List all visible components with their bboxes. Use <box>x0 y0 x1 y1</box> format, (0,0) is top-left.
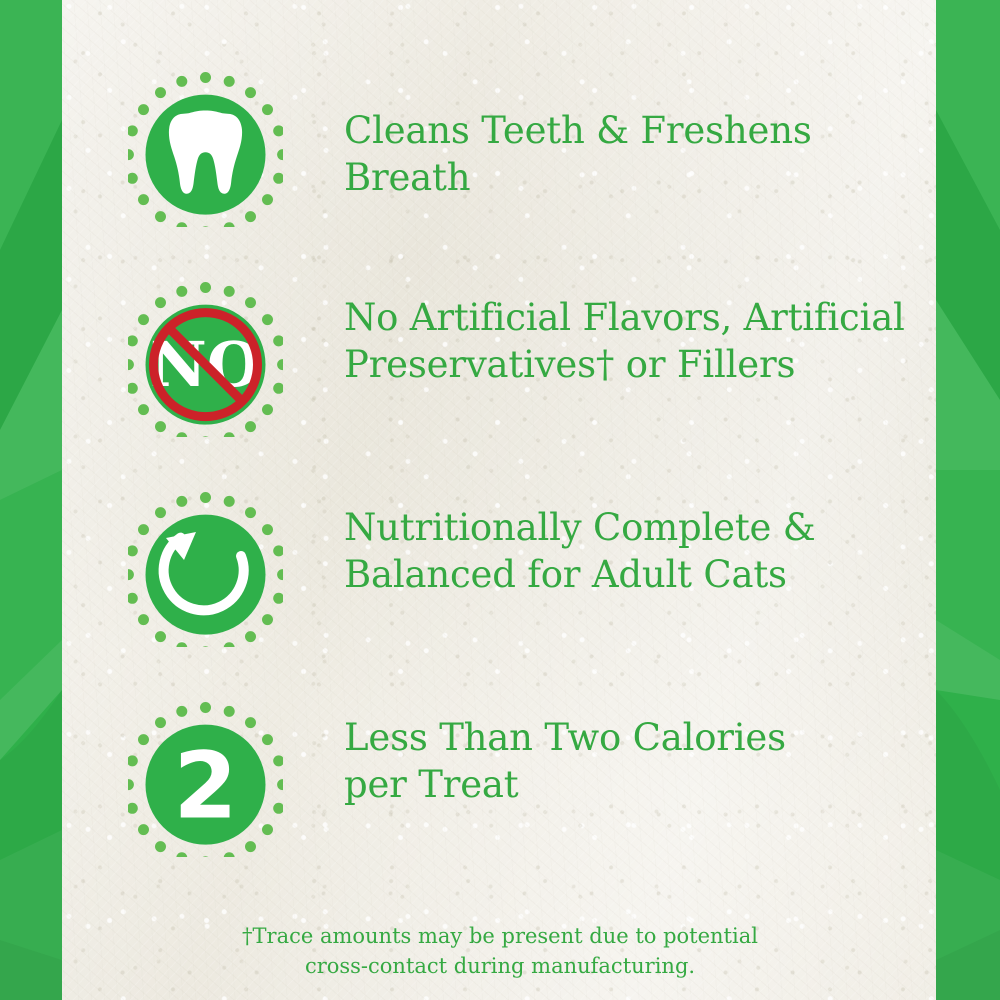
feature-row: Nutritionally Complete & Balanced for Ad… <box>128 492 928 647</box>
right-green-border <box>936 0 1000 1000</box>
feature-row: 2 Less Than Two Calories per Treat <box>128 702 928 857</box>
footnote-text: †Trace amounts may be present due to pot… <box>160 922 840 982</box>
feature-text: Nutritionally Complete & Balanced for Ad… <box>344 492 816 599</box>
number-two-icon: 2 <box>128 702 283 857</box>
feature-icon-badge: NO <box>128 282 283 437</box>
product-benefits-poster: Cleans Teeth & Freshens Breath <box>0 0 1000 1000</box>
feature-icon-badge: 2 <box>128 702 283 857</box>
no-prohibition-icon: NO <box>128 282 283 437</box>
feature-icon-badge <box>128 492 283 647</box>
feature-text: Cleans Teeth & Freshens Breath <box>344 72 928 202</box>
two-label: 2 <box>173 733 237 840</box>
right-band-facets <box>936 0 1000 1000</box>
feature-icon-badge <box>128 72 283 227</box>
circular-arrow-icon <box>128 492 283 647</box>
feature-text: No Artificial Flavors, Artificial Preser… <box>344 282 905 389</box>
tooth-icon <box>128 72 283 227</box>
left-band-facets <box>0 0 62 1000</box>
left-green-border <box>0 0 62 1000</box>
feature-text: Less Than Two Calories per Treat <box>344 702 786 809</box>
feature-row: NO No Artificial Flavors, Artificial Pre… <box>128 282 928 437</box>
feature-row: Cleans Teeth & Freshens Breath <box>128 72 928 227</box>
